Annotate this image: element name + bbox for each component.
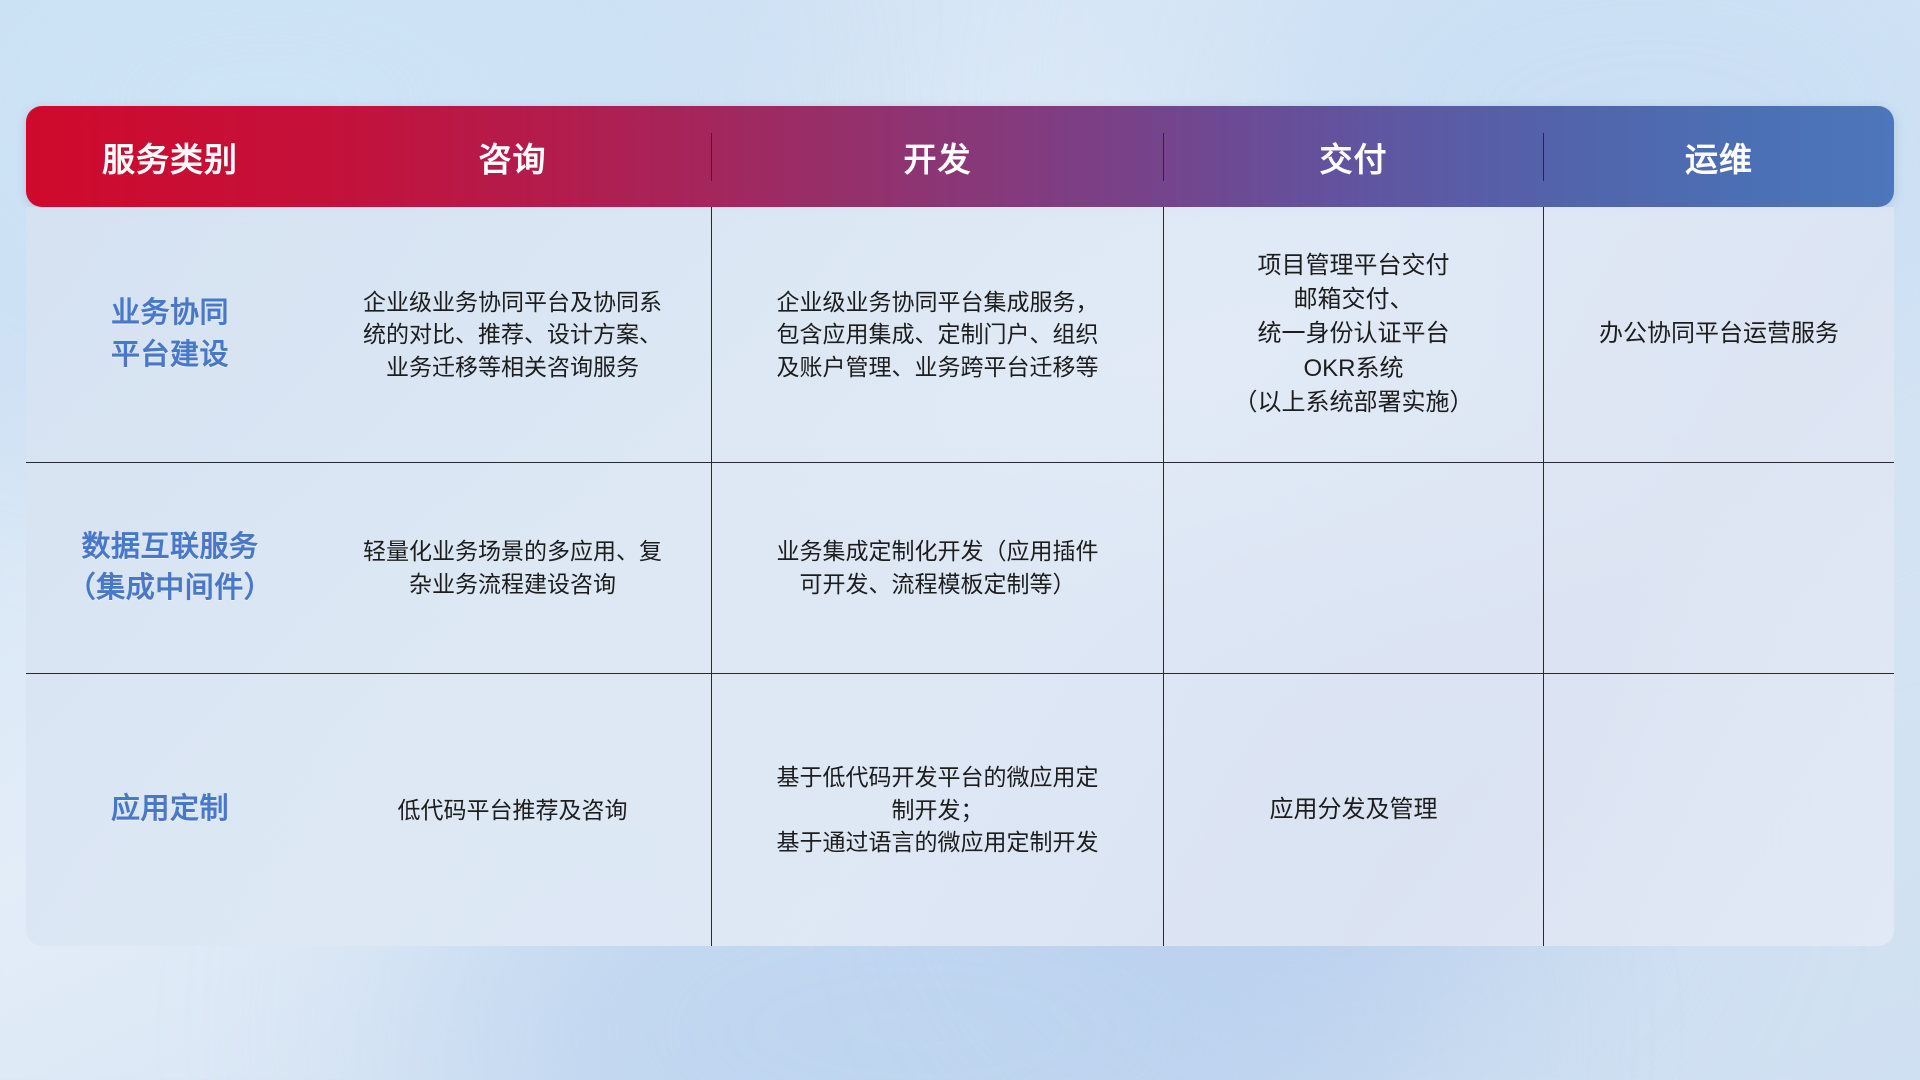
table-header-row: 服务类别 咨询 开发 交付 运维 <box>26 106 1894 207</box>
cell-text-consulting: 低代码平台推荐及咨询 <box>398 794 628 827</box>
cell-consulting: 低代码平台推荐及咨询 <box>314 674 712 946</box>
column-header-operations: 运维 <box>1544 133 1894 181</box>
cell-text-delivery: 应用分发及管理 <box>1270 793 1438 827</box>
cell-text-development: 基于低代码开发平台的微应用定 制开发； 基于通过语言的微应用定制开发 <box>777 761 1099 859</box>
row-category-label: 应用定制 <box>111 789 229 830</box>
column-header-delivery: 交付 <box>1164 133 1544 181</box>
cell-text-delivery: 项目管理平台交付 邮箱交付、 统一身份认证平台 OKR系统 （以上系统部署实施） <box>1234 249 1474 419</box>
cell-consulting: 企业级业务协同平台及协同系 统的对比、推荐、设计方案、 业务迁移等相关咨询服务 <box>314 207 712 462</box>
cell-category: 数据互联服务 （集成中间件） <box>26 463 314 673</box>
cell-delivery: 项目管理平台交付 邮箱交付、 统一身份认证平台 OKR系统 （以上系统部署实施） <box>1164 207 1544 462</box>
column-header-consulting: 咨询 <box>314 133 712 181</box>
table-row: 业务协同 平台建设 企业级业务协同平台及协同系 统的对比、推荐、设计方案、 业务… <box>26 207 1894 463</box>
cell-text-development: 业务集成定制化开发（应用插件 可开发、流程模板定制等） <box>777 535 1099 600</box>
cell-delivery: 应用分发及管理 <box>1164 674 1544 946</box>
cell-operations: 办公协同平台运营服务 <box>1544 207 1894 462</box>
row-category-label: 业务协同 平台建设 <box>111 293 229 375</box>
cell-operations <box>1544 674 1894 946</box>
column-header-category: 服务类别 <box>26 133 314 181</box>
cell-operations <box>1544 463 1894 673</box>
cell-text-development: 企业级业务协同平台集成服务， 包含应用集成、定制门户、组织 及账户管理、业务跨平… <box>777 286 1099 384</box>
row-category-label: 数据互联服务 （集成中间件） <box>67 527 274 609</box>
cell-development: 基于低代码开发平台的微应用定 制开发； 基于通过语言的微应用定制开发 <box>712 674 1164 946</box>
cell-development: 企业级业务协同平台集成服务， 包含应用集成、定制门户、组织 及账户管理、业务跨平… <box>712 207 1164 462</box>
table-row: 数据互联服务 （集成中间件） 轻量化业务场景的多应用、复 杂业务流程建设咨询 业… <box>26 463 1894 674</box>
table-body: 业务协同 平台建设 企业级业务协同平台及协同系 统的对比、推荐、设计方案、 业务… <box>26 207 1894 946</box>
cell-consulting: 轻量化业务场景的多应用、复 杂业务流程建设咨询 <box>314 463 712 673</box>
table-row: 应用定制 低代码平台推荐及咨询 基于低代码开发平台的微应用定 制开发； 基于通过… <box>26 674 1894 946</box>
cell-development: 业务集成定制化开发（应用插件 可开发、流程模板定制等） <box>712 463 1164 673</box>
cell-category: 应用定制 <box>26 674 314 946</box>
cell-text-operations: 办公协同平台运营服务 <box>1599 317 1839 351</box>
column-header-development: 开发 <box>712 133 1164 181</box>
cell-text-consulting: 轻量化业务场景的多应用、复 杂业务流程建设咨询 <box>363 535 662 600</box>
service-matrix-table: 服务类别 咨询 开发 交付 运维 业务协同 平台建设 企业级业务协同平台及协同系… <box>26 106 1894 946</box>
cell-text-consulting: 企业级业务协同平台及协同系 统的对比、推荐、设计方案、 业务迁移等相关咨询服务 <box>363 286 662 384</box>
cell-category: 业务协同 平台建设 <box>26 207 314 462</box>
cell-delivery <box>1164 463 1544 673</box>
